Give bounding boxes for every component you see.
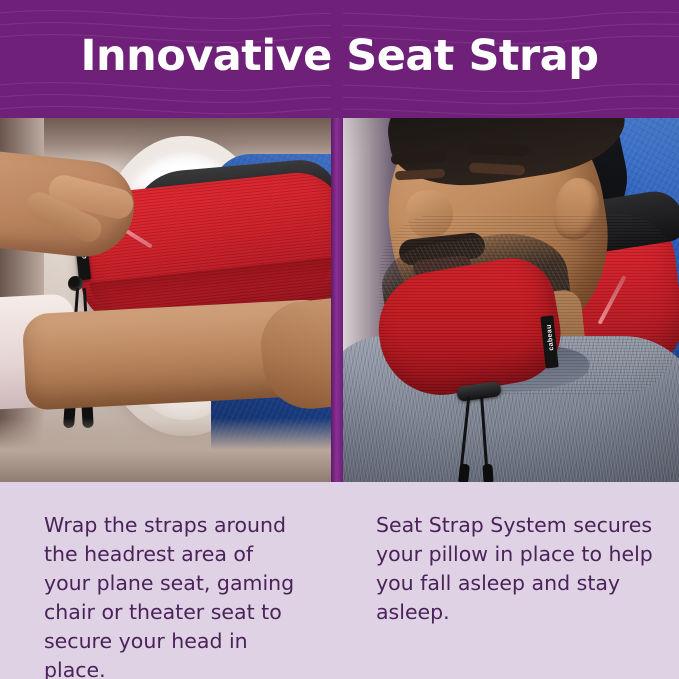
man-eyebrow-right — [467, 143, 529, 156]
strap-tip-right-2 — [482, 464, 493, 482]
caption-left: Wrap the straps around the headrest area… — [0, 482, 331, 679]
photo-left-wrapping-pillow: cabeau — [0, 118, 331, 482]
caption-right: Seat Strap System secures your pillow in… — [343, 482, 679, 679]
pillow-fabric-texture-right — [379, 214, 679, 394]
infographic-frame: Innovative Seat Strap cabeau — [0, 0, 679, 679]
caption-row: Wrap the straps around the headrest area… — [0, 482, 679, 679]
photo-right-man-sleeping: cabeau — [343, 118, 679, 482]
divider-header-segment — [331, 0, 343, 118]
cabin-floor-shadow — [0, 418, 331, 482]
strap-tip-right-1 — [458, 464, 470, 482]
